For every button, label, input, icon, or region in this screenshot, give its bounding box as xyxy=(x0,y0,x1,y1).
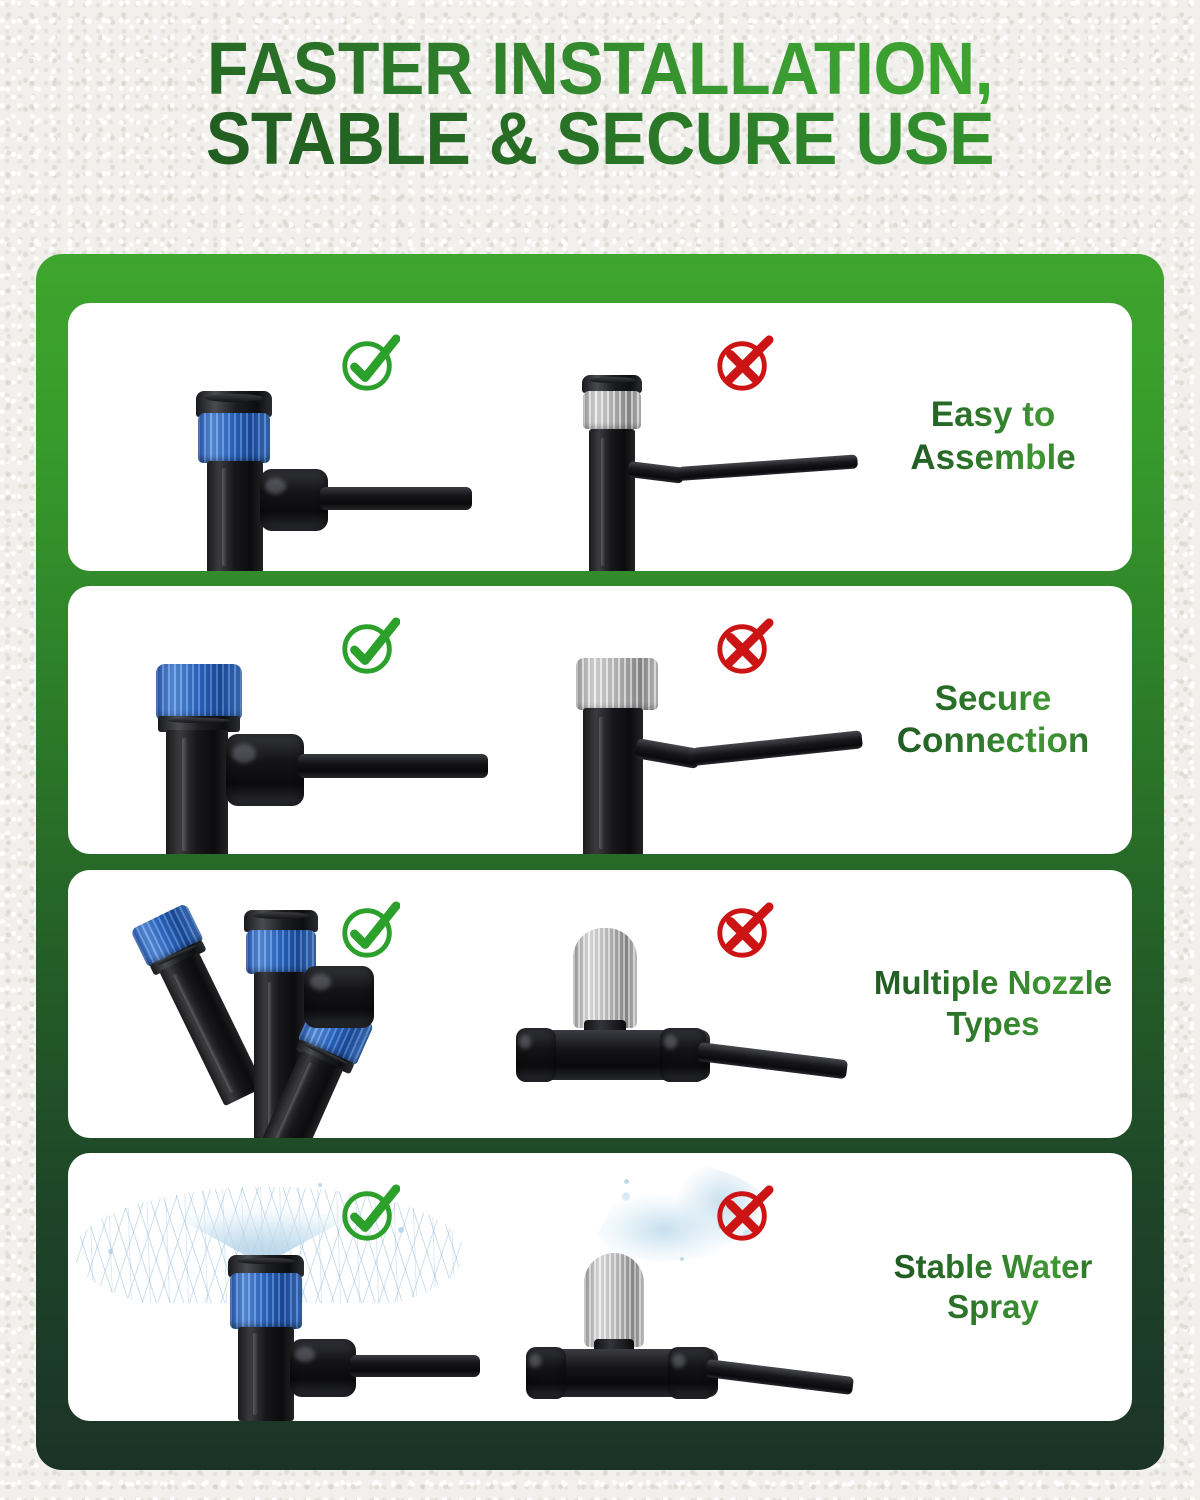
product-comparison-media xyxy=(68,303,854,571)
feature-row: Multiple Nozzle Types xyxy=(68,870,1132,1138)
blue-nozzle-cap xyxy=(246,930,316,974)
check-circle-icon xyxy=(338,900,400,962)
feature-label-line-1: Secure xyxy=(897,678,1089,721)
water-droplet xyxy=(624,1179,629,1184)
feature-card-easy-to-assemble: Easy to Assemble xyxy=(68,303,1132,571)
feature-row: Easy to Assemble xyxy=(68,303,1132,571)
feature-label-easy-to-assemble: Easy to Assemble xyxy=(854,303,1132,571)
blue-nozzle-cap xyxy=(156,664,242,720)
product-comparison-media xyxy=(68,870,854,1138)
check-circle-icon xyxy=(338,616,400,678)
feature-card-stable-water-spray: Stable Water Spray xyxy=(68,1153,1132,1421)
feature-label-line-2: Assemble xyxy=(910,437,1075,480)
feature-row: Secure Connection xyxy=(68,586,1132,854)
feature-label-line-2: Connection xyxy=(897,720,1089,763)
headline-line-1: FASTER INSTALLATION, xyxy=(48,34,1152,104)
product-comparison-media xyxy=(68,1153,854,1421)
feature-label-multiple-nozzle-types: Multiple Nozzle Types xyxy=(854,870,1132,1138)
feature-label-secure-connection: Secure Connection xyxy=(854,586,1132,854)
supply-tube xyxy=(298,754,488,778)
feature-row-list: Easy to Assemble xyxy=(36,254,1164,1470)
feature-label-text: Multiple Nozzle Types xyxy=(874,963,1112,1044)
blue-nozzle-cap xyxy=(198,413,270,463)
quick-connector xyxy=(260,469,328,531)
sprinkler-riser xyxy=(238,1327,294,1421)
feature-label-line-1: Multiple Nozzle xyxy=(874,963,1112,1003)
tee-left-port xyxy=(526,1347,566,1399)
supply-tube xyxy=(697,1042,848,1079)
supply-tube xyxy=(350,1355,480,1377)
gray-bullet-nozzle xyxy=(573,928,637,1028)
page-title: FASTER INSTALLATION, STABLE & SECURE USE xyxy=(0,34,1200,175)
headline-line-2: STABLE & SECURE USE xyxy=(48,104,1152,174)
feature-label-stable-water-spray: Stable Water Spray xyxy=(854,1153,1132,1421)
feature-label-line-1: Stable Water xyxy=(894,1247,1093,1287)
cross-circle-icon xyxy=(713,1183,775,1245)
gray-bullet-nozzle xyxy=(584,1253,644,1347)
feature-label-line-2: Spray xyxy=(894,1287,1093,1327)
quick-connector xyxy=(290,1339,356,1397)
feature-label-line-1: Easy to xyxy=(910,394,1075,437)
tee-left-port xyxy=(516,1028,556,1082)
supply-tube xyxy=(320,487,472,510)
sprinkler-riser xyxy=(207,461,263,571)
feature-card-multiple-nozzle-types: Multiple Nozzle Types xyxy=(68,870,1132,1138)
sprinkler-riser xyxy=(166,730,228,854)
feature-label-text: Easy to Assemble xyxy=(910,394,1075,479)
sprinkler-riser xyxy=(159,952,264,1106)
feature-row: Stable Water Spray xyxy=(68,1153,1132,1421)
feature-frame: Easy to Assemble xyxy=(36,254,1164,1470)
feature-label-text: Secure Connection xyxy=(897,678,1089,763)
infographic-page: FASTER INSTALLATION, STABLE & SECURE USE xyxy=(0,0,1200,1500)
bent-tube-segment xyxy=(627,461,685,484)
water-droplet xyxy=(108,1249,113,1254)
water-droplet xyxy=(680,1257,684,1261)
blue-nozzle-cap xyxy=(230,1273,302,1329)
supply-tube xyxy=(705,1359,854,1395)
feature-label-line-2: Types xyxy=(874,1004,1112,1044)
sprinkler-riser xyxy=(583,708,643,854)
cross-circle-icon xyxy=(713,333,775,395)
sprinkler-riser xyxy=(589,429,635,571)
feature-card-secure-connection: Secure Connection xyxy=(68,586,1132,854)
feature-label-text: Stable Water Spray xyxy=(894,1247,1093,1328)
cross-circle-icon xyxy=(713,616,775,678)
supply-tube xyxy=(678,454,859,481)
black-collar xyxy=(244,910,318,932)
check-circle-icon xyxy=(338,333,400,395)
check-circle-icon xyxy=(338,1183,400,1245)
cross-circle-icon xyxy=(713,900,775,962)
quick-connector xyxy=(304,966,374,1028)
supply-tube xyxy=(692,731,863,767)
quick-connector xyxy=(226,734,304,806)
product-comparison-media xyxy=(68,586,854,854)
water-droplet xyxy=(318,1183,322,1187)
gray-nozzle-cap xyxy=(576,658,658,710)
bent-tube-segment xyxy=(634,738,701,769)
gray-nozzle-cap xyxy=(583,391,641,429)
